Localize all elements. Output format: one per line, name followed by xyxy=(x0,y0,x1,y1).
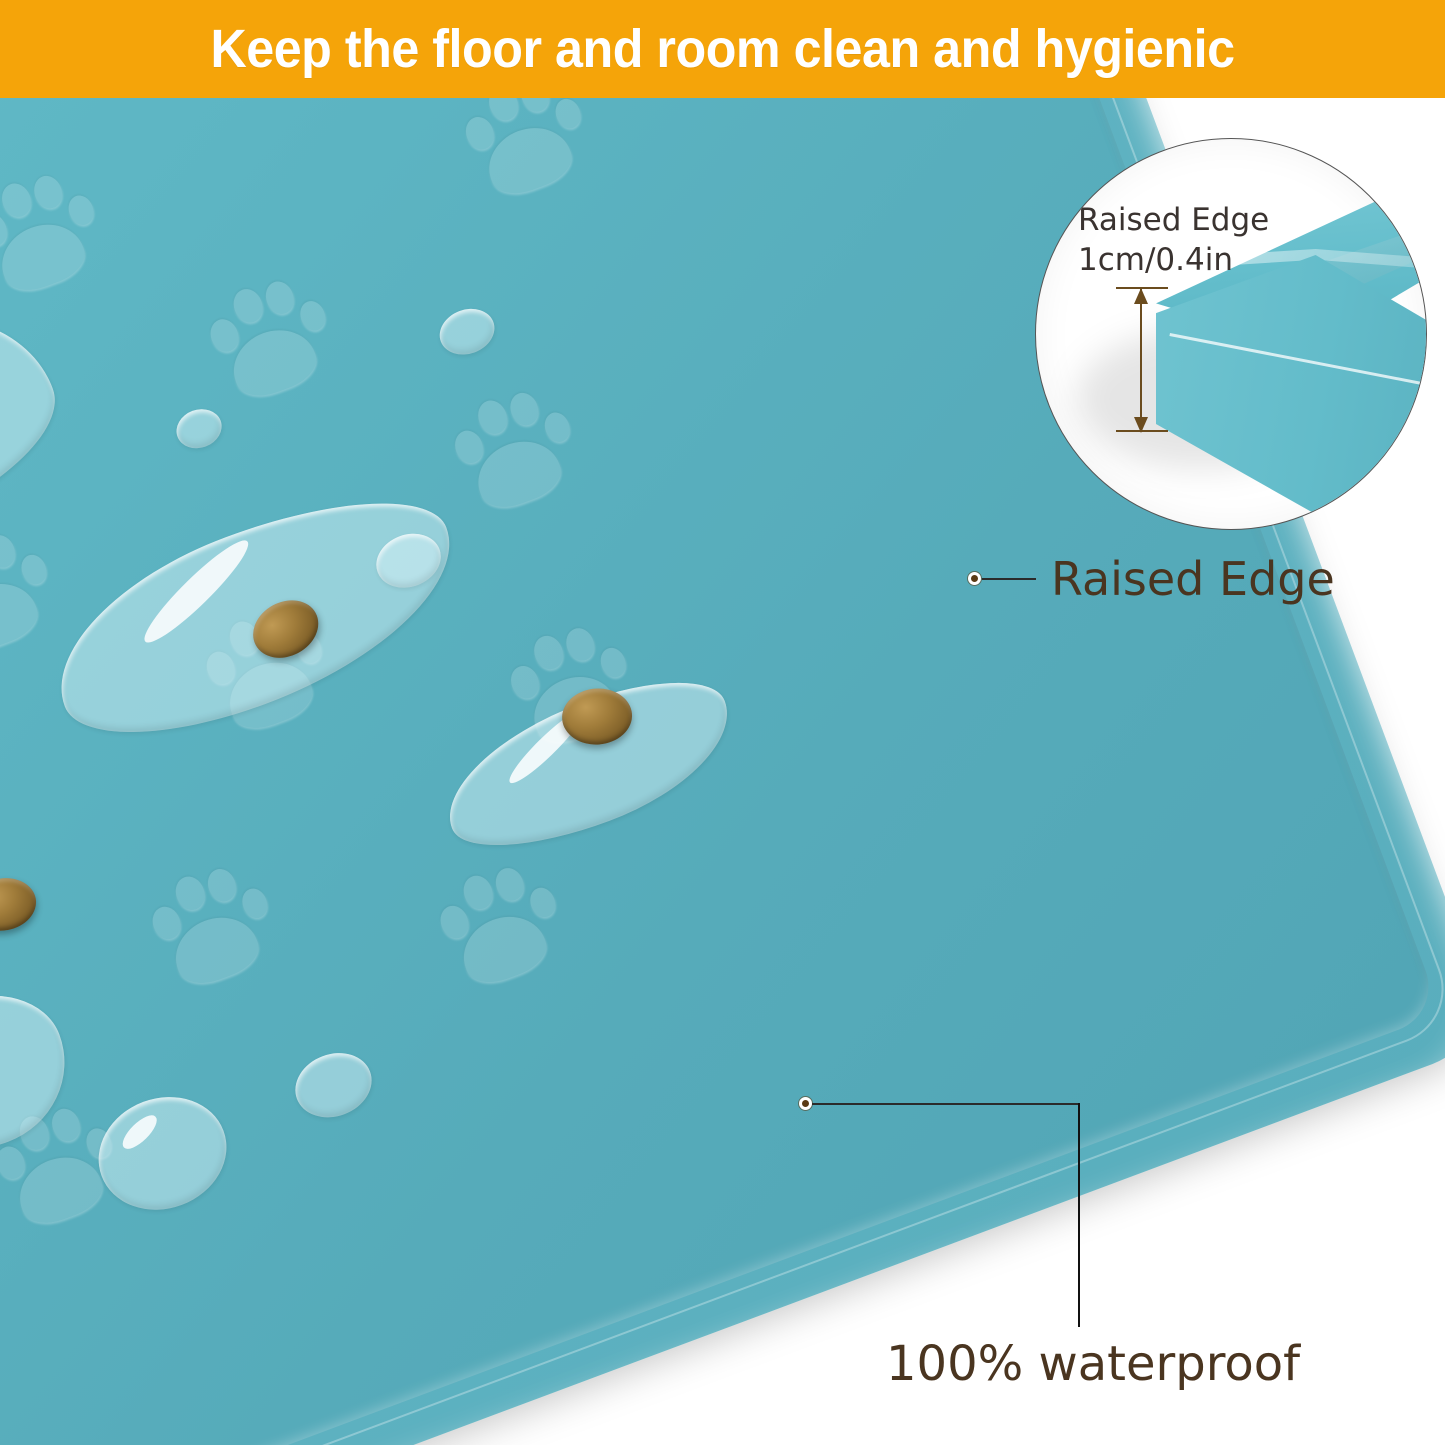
paw-print xyxy=(437,374,591,527)
callout-measurement: 1cm/0.4in xyxy=(1078,241,1308,281)
headline-banner: Keep the floor and room clean and hygien… xyxy=(0,0,1445,98)
headline-text: Keep the floor and room clean and hygien… xyxy=(51,0,1395,98)
paw-print xyxy=(134,850,288,1003)
water-droplet xyxy=(286,1043,381,1128)
waterproof-leader-horizontal xyxy=(812,1103,1080,1105)
dimension-arrow xyxy=(1140,289,1142,432)
paw-print xyxy=(0,516,67,669)
paw-print xyxy=(0,157,114,310)
waterproof-label: 100% waterproof xyxy=(886,1336,1300,1392)
raised-edge-callout-circle: Raised Edge 1cm/0.4in xyxy=(1035,138,1427,530)
raised-edge-marker-dot xyxy=(968,572,981,585)
raised-edge-label: Raised Edge xyxy=(1051,552,1335,606)
raised-edge-leader-line xyxy=(982,578,1036,580)
waterproof-leader-vertical xyxy=(1078,1103,1080,1327)
callout-label: Raised Edge 1cm/0.4in xyxy=(1078,201,1308,280)
water-droplet xyxy=(433,301,501,362)
paw-print xyxy=(447,98,601,213)
product-photo: Raised Edge 1cm/0.4in xyxy=(0,98,1445,1445)
waterproof-marker-dot xyxy=(799,1097,812,1110)
water-droplet xyxy=(171,403,227,455)
paw-print xyxy=(192,262,346,415)
callout-title: Raised Edge xyxy=(1078,201,1308,241)
product-feature-image: Keep the floor and room clean and hygien… xyxy=(0,0,1445,1445)
kibble-piece xyxy=(0,873,40,936)
paw-print xyxy=(422,849,576,1002)
